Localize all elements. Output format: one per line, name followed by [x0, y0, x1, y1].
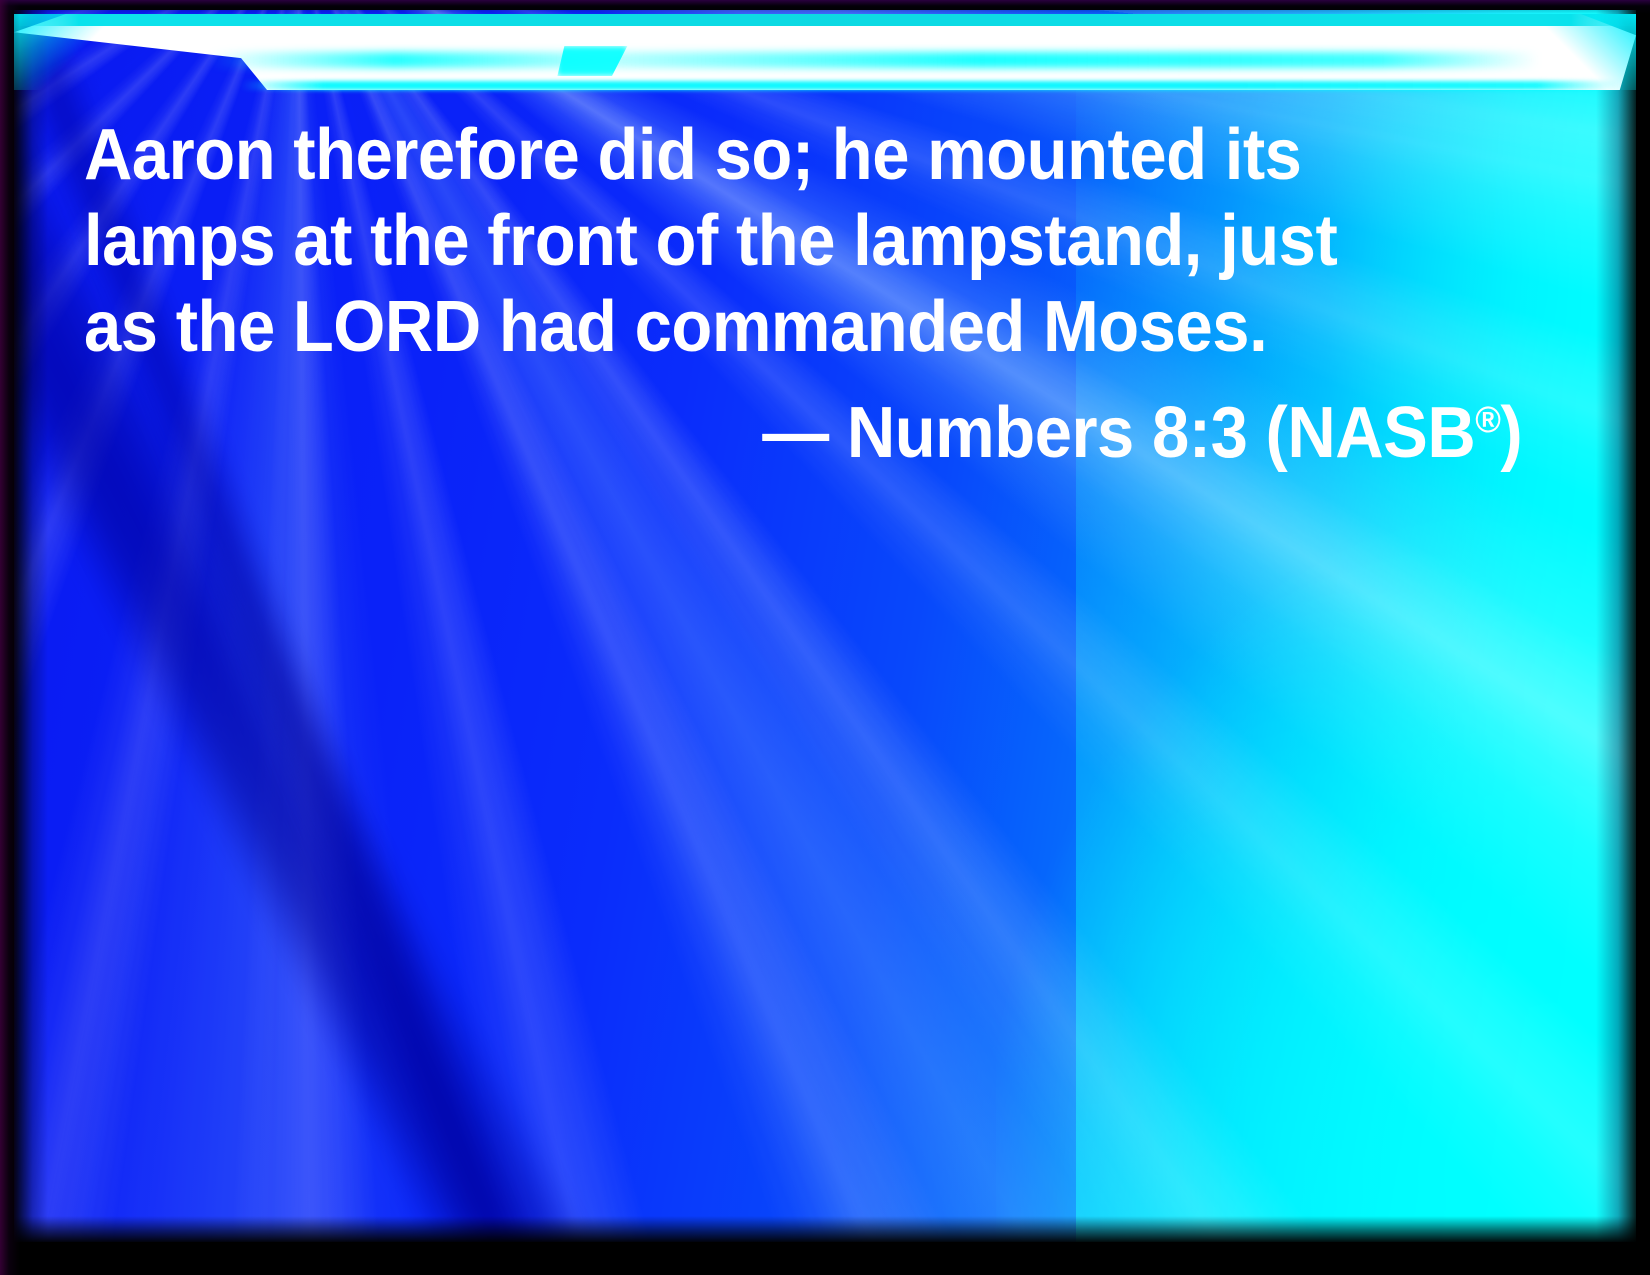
registered-trademark-icon: ®: [1475, 398, 1500, 440]
verse-reference-open-paren: (: [1265, 393, 1287, 473]
verse-reference-version: NASB: [1287, 393, 1475, 473]
verse-line-1: Aaron therefore did so; he mounted its: [84, 112, 1423, 198]
verse-line-2: lamps at the front of the lampstand, jus…: [84, 198, 1423, 284]
verse-reference-chapter-verse: 8:3: [1152, 393, 1247, 473]
verse-line-3: as the LORD had commanded Moses.: [84, 284, 1423, 370]
verse-reference: — Numbers 8:3 (NASB®): [84, 390, 1524, 476]
background-left-falloff: [14, 10, 48, 1242]
verse-reference-dash: —: [762, 393, 828, 473]
verse-reference-book: Numbers: [847, 393, 1134, 473]
background-bottom-falloff: [14, 1216, 1636, 1242]
verse-reference-inner: — Numbers 8:3 (NASB®): [762, 390, 1522, 476]
background-right-falloff: [1596, 10, 1636, 1242]
verse-reference-close-paren: ): [1500, 393, 1522, 473]
slide-frame: Aaron therefore did so; he mounted its l…: [0, 0, 1650, 1275]
verse-text-block: Aaron therefore did so; he mounted its l…: [84, 112, 1524, 476]
background-cyan-corner-glow: [996, 502, 1636, 1242]
